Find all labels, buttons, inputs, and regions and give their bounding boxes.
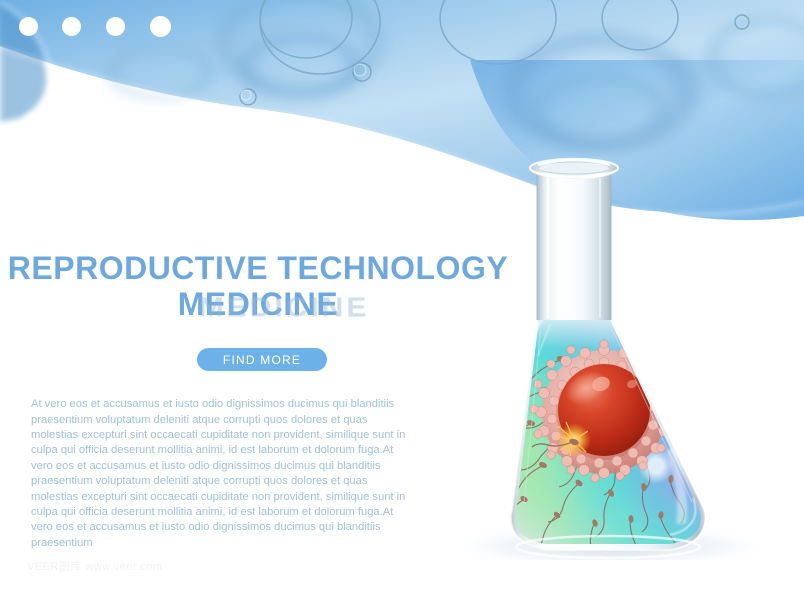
flask-rim [530, 159, 618, 179]
poster-canvas: REPRODUCTIVE TECHNOLOGY MEDICINE MEDICIN… [0, 0, 804, 590]
decorative-dot-1 [19, 17, 38, 36]
hero-body-paragraph: At vero eos et accusamus et iusto odio d… [31, 397, 413, 551]
flask-illustration [438, 148, 778, 560]
decorative-dot-3 [106, 17, 125, 36]
flask-neck [537, 170, 611, 320]
page-title-line-2-text: MEDICINE [178, 286, 338, 322]
decorative-dot-2 [62, 17, 81, 36]
find-more-button[interactable]: FIND MORE [197, 348, 327, 371]
stock-watermark: VEER图库 www.veer.com [27, 558, 162, 574]
decorative-dot-4 [150, 16, 171, 37]
